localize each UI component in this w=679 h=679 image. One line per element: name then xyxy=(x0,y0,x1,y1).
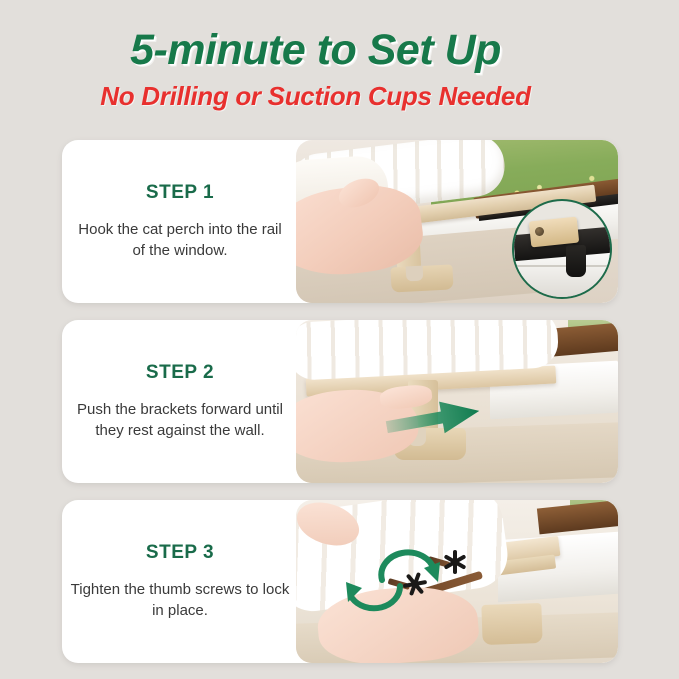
step-card-1: STEP 1 Hook the cat perch into the rail … xyxy=(62,140,618,303)
step-1-photo xyxy=(296,140,618,303)
step-3-text-block: STEP 3 Tighten the thumb screws to lock … xyxy=(62,500,298,663)
step-2-label: STEP 2 xyxy=(146,362,214,384)
step-3-photo xyxy=(296,500,618,663)
step-3-description: Tighten the thumb screws to lock in plac… xyxy=(70,580,290,621)
step-3-label: STEP 3 xyxy=(146,542,214,564)
page-subtitle: No Drilling or Suction Cups Needed xyxy=(0,83,655,110)
step-2-text-block: STEP 2 Push the brackets forward until t… xyxy=(62,320,298,483)
perch-bracket-foot xyxy=(481,603,542,645)
step-1-text-block: STEP 1 Hook the cat perch into the rail … xyxy=(62,140,298,303)
step-card-2: STEP 2 Push the brackets forward until t… xyxy=(62,320,618,483)
perch-bracket-notch xyxy=(406,266,424,282)
knob-core xyxy=(447,554,463,570)
page-title: 5-minute to Set Up xyxy=(0,28,655,73)
step-card-3: STEP 3 Tighten the thumb screws to lock … xyxy=(62,500,618,663)
detail-inset-circle xyxy=(512,199,612,299)
instruction-graphic: 5-minute to Set Up No Drilling or Suctio… xyxy=(0,0,679,679)
thumb-screw-upper xyxy=(442,550,468,574)
step-1-label: STEP 1 xyxy=(146,182,214,204)
step-2-description: Push the brackets forward until they res… xyxy=(70,400,290,441)
step-2-photo xyxy=(296,320,618,483)
rotation-arrow-lower-icon xyxy=(342,574,408,616)
inset-hook-clamp xyxy=(566,245,586,277)
inset-screw xyxy=(535,227,544,236)
header: 5-minute to Set Up No Drilling or Suctio… xyxy=(0,28,679,110)
step-1-description: Hook the cat perch into the rail of the … xyxy=(70,220,290,261)
